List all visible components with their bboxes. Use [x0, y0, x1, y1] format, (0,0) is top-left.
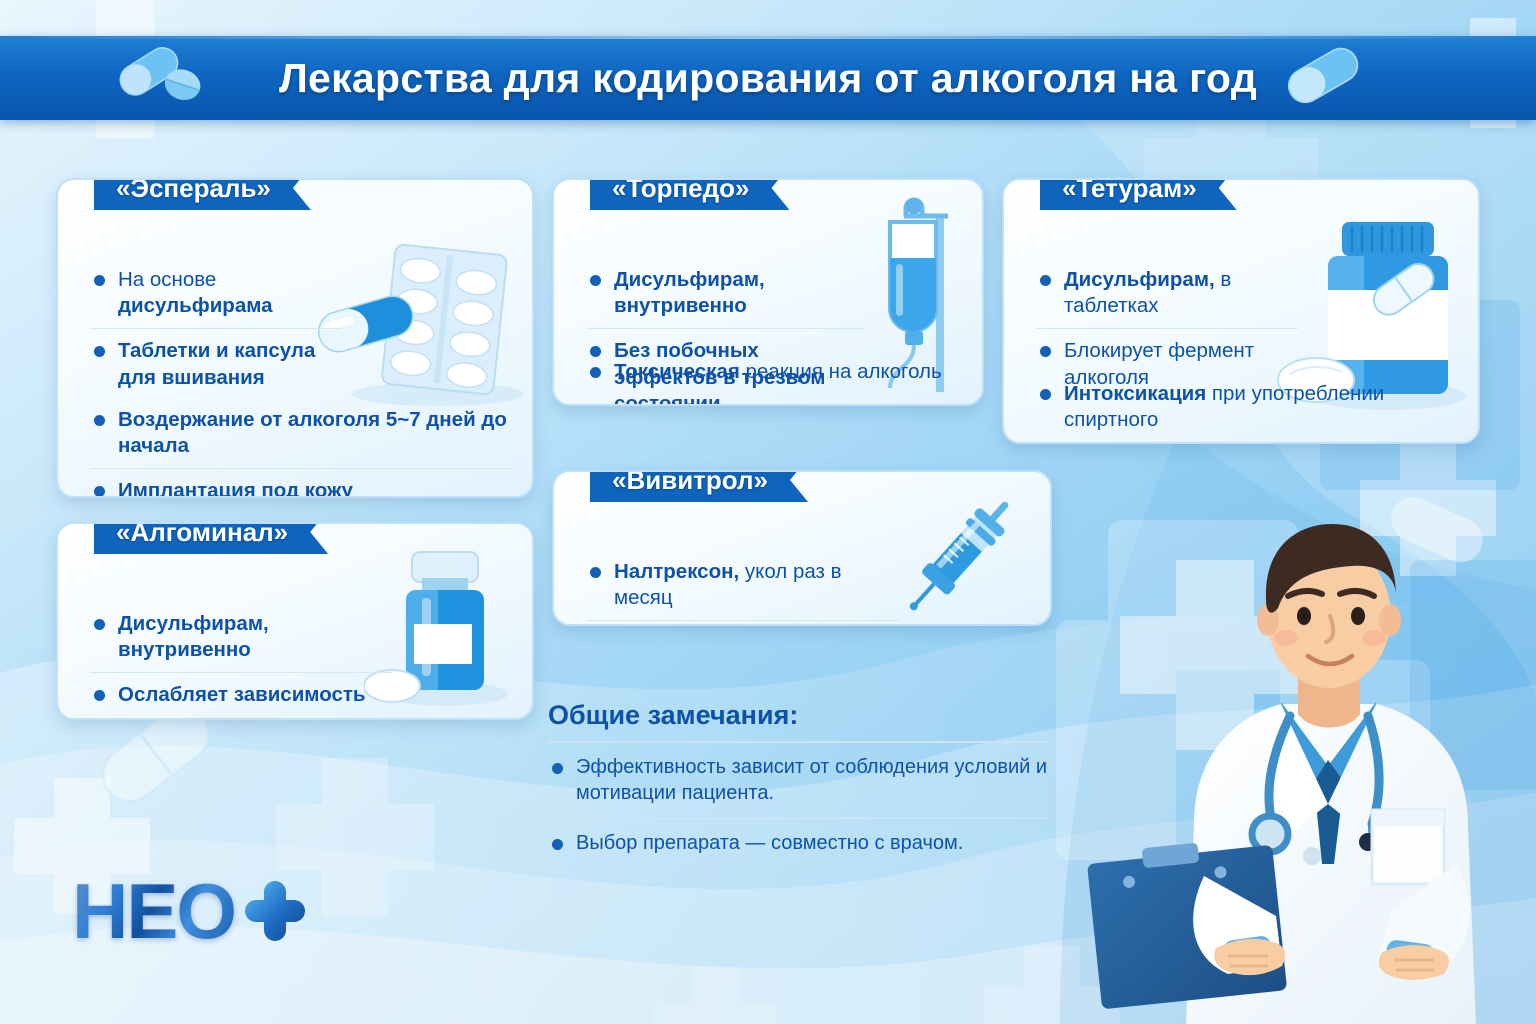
list-item: Имплантация под кожу	[90, 469, 512, 498]
general-notes-section: Общие замечания: Эффективность зависит о…	[548, 700, 1048, 869]
list-item: Токсическая реакция на алкоголь	[586, 350, 966, 394]
card-title-vivitrol: «Вивитрол»	[590, 470, 808, 502]
list-item: Налтрексон, укол раз в месяц	[586, 550, 900, 621]
list-item: Дисульфирам, внутривенно	[586, 258, 864, 329]
list-item: Эффективность зависит от соблюдения усло…	[548, 743, 1048, 819]
card-items-algominal: Дисульфирам, внутривенно Ослабляет завис…	[90, 602, 392, 720]
capsule-icon	[1276, 46, 1368, 111]
card-vivitrol: «Вивитрол»	[552, 470, 1052, 626]
card-items-torpedo-wide: Токсическая реакция на алкоголь	[586, 350, 966, 394]
card-esperal: «Эспераль»	[56, 178, 534, 498]
logo-text: НЕО	[72, 872, 235, 950]
card-title-esperal: «Эспераль»	[94, 178, 311, 210]
plus-cross-icon	[245, 881, 305, 941]
list-item: Устраняет влечение к алкоголю	[90, 719, 392, 720]
card-items-esperal: На основе дисульфирама Таблетки и капсул…	[90, 258, 342, 400]
page-title: Лекарства для кодирования от алкоголя на…	[279, 55, 1257, 102]
card-torpedo: «Торпедо» Дисульфирам, внутривенно Без п…	[552, 178, 984, 406]
list-item: Воздержание от алкоголя 5~7 дней до нача…	[90, 398, 512, 469]
card-teturam: «Тетурам»	[1002, 178, 1480, 444]
card-items-esperal-wide: Воздержание от алкоголя 5~7 дней до нача…	[90, 398, 512, 498]
list-item: Снижает тягу к алкоголю	[586, 621, 900, 626]
card-title-algominal: «Алгоминал»	[94, 522, 328, 554]
doctor-with-clipboard-illustration	[1076, 504, 1536, 1024]
syringe-icon	[880, 480, 1040, 626]
card-title-torpedo: «Торпедо»	[590, 178, 789, 210]
capsule-pill-icon	[118, 46, 210, 111]
list-item: Интоксикация при употреблении спиртного	[1036, 372, 1462, 442]
infographic-poster: Лекарства для кодирования от алкоголя на…	[0, 0, 1536, 1024]
list-item: Дисульфирам, в таблетках	[1036, 258, 1298, 329]
brand-logo: НЕО	[72, 872, 305, 950]
list-item: Дисульфирам, внутривенно	[90, 602, 392, 673]
list-item: На основе дисульфирама	[90, 258, 342, 329]
poster-header: Лекарства для кодирования от алкоголя на…	[0, 36, 1536, 120]
list-item: Выбор препарата — совместно с врачом.	[548, 819, 1048, 869]
notes-title: Общие замечания:	[548, 700, 1048, 743]
card-items-teturam-wide: Интоксикация при употреблении спиртного	[1036, 372, 1462, 442]
list-item: Ослабляет зависимость	[90, 673, 392, 718]
card-items-vivitrol: Налтрексон, укол раз в месяц Снижает тяг…	[586, 550, 900, 626]
card-algominal: «Алгоминал» Дисульфирам, внутривенно Осл…	[56, 522, 534, 720]
list-item: Таблетки и капсула для вшивания	[90, 329, 342, 399]
card-title-teturam: «Тетурам»	[1040, 178, 1237, 210]
